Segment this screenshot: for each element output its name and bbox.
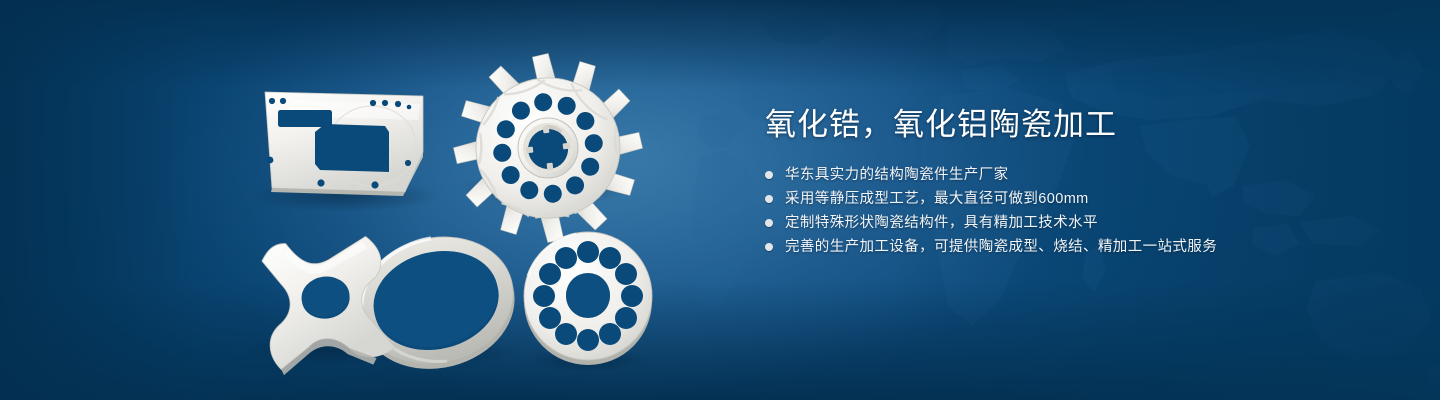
bullet-dot-icon bbox=[765, 195, 773, 203]
feature-text: 华东具实力的结构陶瓷件生产厂家 bbox=[785, 163, 1009, 187]
ceramic-impeller-disc-graphic bbox=[445, 45, 652, 252]
product-photo-cluster bbox=[0, 0, 700, 400]
page-title: 氧化锆，氧化铝陶瓷加工 bbox=[765, 104, 1385, 146]
list-item: 华东具实力的结构陶瓷件生产厂家 bbox=[765, 163, 1385, 187]
ceramic-flat-plate-graphic bbox=[265, 92, 423, 196]
banner-copy: 氧化锆，氧化铝陶瓷加工 华东具实力的结构陶瓷件生产厂家 采用等静压成型工艺，最大… bbox=[765, 104, 1385, 259]
list-item: 定制特殊形状陶瓷结构件，具有精加工技术水平 bbox=[765, 211, 1385, 235]
bullet-dot-icon bbox=[765, 219, 773, 227]
hero-banner: 氧化锆，氧化铝陶瓷加工 华东具实力的结构陶瓷件生产厂家 采用等静压成型工艺，最大… bbox=[0, 0, 1440, 400]
feature-list: 华东具实力的结构陶瓷件生产厂家 采用等静压成型工艺，最大直径可做到600mm 定… bbox=[765, 163, 1385, 259]
feature-text: 定制特殊形状陶瓷结构件，具有精加工技术水平 bbox=[785, 211, 1098, 235]
bullet-dot-icon bbox=[765, 171, 773, 179]
ceramic-perforated-disc-graphic bbox=[524, 232, 652, 365]
list-item: 完善的生产加工设备，可提供陶瓷成型、烧结、精加工一站式服务 bbox=[765, 235, 1385, 259]
feature-text: 采用等静压成型工艺，最大直径可做到600mm bbox=[785, 187, 1089, 211]
feature-text: 完善的生产加工设备，可提供陶瓷成型、烧结、精加工一站式服务 bbox=[785, 235, 1217, 259]
list-item: 采用等静压成型工艺，最大直径可做到600mm bbox=[765, 187, 1385, 211]
bullet-dot-icon bbox=[765, 243, 773, 251]
